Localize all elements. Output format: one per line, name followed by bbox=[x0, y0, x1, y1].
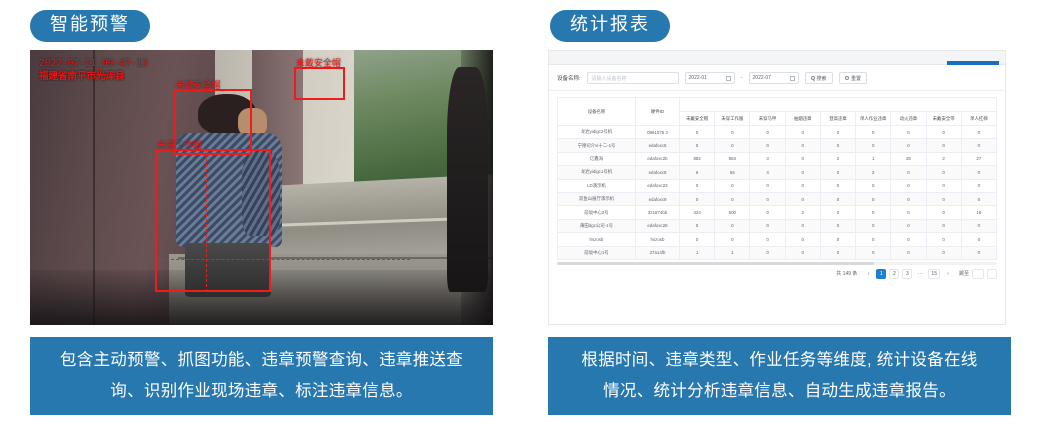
header-violation-5[interactable]: 单人作业违章 bbox=[856, 112, 891, 126]
table-row[interactable]: LD演示机edafoxc23000000000 bbox=[558, 179, 997, 192]
pagination-jump-input[interactable] bbox=[972, 269, 984, 279]
table-body: 龙岩yidigc2号机0861075 3000000000宁德司介vi十二-1号… bbox=[558, 126, 997, 260]
cell-violation-7: 0 bbox=[926, 192, 961, 205]
cell-violation-7: 0 bbox=[926, 166, 961, 179]
active-tab-indicator[interactable] bbox=[947, 61, 999, 65]
cell-violation-1: 883 bbox=[715, 152, 750, 165]
cell-violation-3: 0 bbox=[785, 219, 820, 232]
cell-violation-2: 0 bbox=[750, 246, 785, 259]
header-violation-group bbox=[680, 98, 997, 112]
pagination-page-···[interactable]: ··· bbox=[915, 269, 925, 279]
table-row[interactable]: 龙岩yidigc2号机0861075 3000000000 bbox=[558, 126, 997, 139]
cell-violation-5: 0 bbox=[856, 179, 891, 192]
detection-guide-line-horizontal bbox=[146, 259, 410, 260]
cell-violation-8: 0 bbox=[961, 192, 996, 205]
cell-violation-2: 0 bbox=[750, 126, 785, 139]
cell-violation-5: 0 bbox=[856, 206, 891, 219]
cell-violation-7: 0 bbox=[926, 219, 961, 232]
reset-button[interactable]: 重置 bbox=[839, 72, 868, 84]
cell-device-name: 前坂中心1号 bbox=[558, 246, 636, 259]
cell-violation-6: 0 bbox=[891, 166, 926, 179]
pagination: 共 149 条 ‹ 123···15 › 跳至 bbox=[549, 265, 1005, 279]
detection-label: 未戴安全帽 bbox=[176, 78, 221, 91]
search-icon bbox=[811, 76, 815, 80]
left-caption-text: 包含主动预警、抓图功能、违章预警查询、违章推送查询、识别作业现场违章、标注违章信… bbox=[56, 345, 467, 407]
cell-violation-3: 0 bbox=[785, 179, 820, 192]
table-head: 设备名称 硬件ID 未戴安全帽未穿工作服未穿马甲抽烟违章登高违章单人作业违章动火… bbox=[558, 98, 997, 126]
cell-violation-2: 4 bbox=[750, 166, 785, 179]
cell-violation-7: 0 bbox=[926, 246, 961, 259]
cell-violation-0: 0 bbox=[680, 179, 715, 192]
video-osd-overlay: 2022-07-11_09-47-13 福建省南平市光泽县 bbox=[39, 57, 148, 83]
filter-toolbar: 设备名称: 请输入设备名称 2022-01 - 2022-07 搜索 重置 bbox=[549, 65, 1005, 91]
cell-violation-8: 0 bbox=[961, 139, 996, 152]
cell-violation-2: 0 bbox=[750, 192, 785, 205]
scrollbar-thumb[interactable] bbox=[557, 262, 874, 265]
cell-violation-3: 0 bbox=[785, 139, 820, 152]
cell-violation-4: 0 bbox=[820, 206, 855, 219]
cell-violation-7: 0 bbox=[926, 179, 961, 192]
table-row[interactable]: 亿鑫海edafoxc2b882883302128227 bbox=[558, 152, 997, 165]
cell-violation-2: 0 bbox=[750, 179, 785, 192]
cell-violation-6: 0 bbox=[891, 192, 926, 205]
cell-violation-2: 3 bbox=[750, 152, 785, 165]
cell-hardware-id: edafoxc28 bbox=[636, 219, 680, 232]
pagination-page-15[interactable]: 15 bbox=[928, 269, 940, 279]
cell-violation-1: 56 bbox=[715, 166, 750, 179]
no-uniform-body-box: 未穿工作服 bbox=[155, 149, 271, 292]
horizontal-scrollbar[interactable] bbox=[557, 262, 997, 265]
calendar-icon bbox=[790, 76, 795, 81]
cell-violation-3: 0 bbox=[785, 152, 820, 165]
header-violation-0[interactable]: 未戴安全帽 bbox=[680, 112, 715, 126]
table-row[interactable]: hszosbhszosb000000000 bbox=[558, 233, 997, 246]
cell-violation-3: 2 bbox=[785, 206, 820, 219]
cell-violation-0: 0 bbox=[680, 233, 715, 246]
cell-violation-3: 0 bbox=[785, 192, 820, 205]
cell-violation-8: 18 bbox=[961, 206, 996, 219]
statistics-table: 设备名称 硬件ID 未戴安全帽未穿工作服未穿马甲抽烟违章登高违章单人作业违章动火… bbox=[557, 97, 997, 260]
cell-violation-5: 0 bbox=[856, 219, 891, 232]
table-header-row-group: 设备名称 硬件ID bbox=[558, 98, 997, 112]
table-row[interactable]: 前坂中心1号27a14fb110000000 bbox=[558, 246, 997, 259]
cell-device-name: 亿鑫海 bbox=[558, 152, 636, 165]
cell-device-name: 莆田dgc公司-1号 bbox=[558, 219, 636, 232]
cell-violation-6: 0 bbox=[891, 219, 926, 232]
cell-violation-6: 0 bbox=[891, 206, 926, 219]
pagination-prev[interactable]: ‹ bbox=[863, 269, 873, 279]
cell-violation-0: 0 bbox=[680, 126, 715, 139]
table-row[interactable]: 龙岩yidigc1号机edafoxc86564002000 bbox=[558, 166, 997, 179]
cell-violation-1: 0 bbox=[715, 139, 750, 152]
cell-violation-1: 0 bbox=[715, 219, 750, 232]
cell-violation-5: 0 bbox=[856, 192, 891, 205]
cell-violation-3: 0 bbox=[785, 246, 820, 259]
date-to-input[interactable]: 2022-07 bbox=[749, 72, 799, 84]
cell-violation-1: 1 bbox=[715, 246, 750, 259]
cell-violation-7: 0 bbox=[926, 206, 961, 219]
cell-violation-6: 0 bbox=[891, 246, 926, 259]
table-row[interactable]: 莆田dgc公司-1号edafoxc28000000000 bbox=[558, 219, 997, 232]
cell-violation-6: 0 bbox=[891, 179, 926, 192]
cell-violation-6: 28 bbox=[891, 152, 926, 165]
cell-violation-0: 0 bbox=[680, 219, 715, 232]
cell-violation-4: 0 bbox=[820, 166, 855, 179]
cell-violation-4: 0 bbox=[820, 246, 855, 259]
pagination-jump-label: 跳至 bbox=[959, 270, 969, 277]
detection-guide-line-vertical bbox=[206, 149, 207, 292]
cell-violation-1: 0 bbox=[715, 179, 750, 192]
header-violation-3[interactable]: 抽烟违章 bbox=[785, 112, 820, 126]
header-violation-7[interactable]: 未戴安全带 bbox=[926, 112, 961, 126]
video-location: 福建省南平市光泽县 bbox=[39, 70, 148, 83]
cell-violation-4: 0 bbox=[820, 233, 855, 246]
cell-violation-6: 0 bbox=[891, 126, 926, 139]
header-violation-1[interactable]: 未穿工作服 bbox=[715, 112, 750, 126]
cell-violation-1: 0 bbox=[715, 192, 750, 205]
pagination-page-1[interactable]: 1 bbox=[876, 269, 886, 279]
cell-violation-5: 0 bbox=[856, 139, 891, 152]
right-caption-text: 根据时间、违章类型、作业任务等维度, 统计设备在线情况、统计分析违章信息、自动生… bbox=[574, 345, 985, 407]
cell-violation-5: 0 bbox=[856, 126, 891, 139]
device-name-label: 设备名称: bbox=[557, 74, 581, 82]
header-violation-2[interactable]: 未穿马甲 bbox=[750, 112, 785, 126]
cell-hardware-id: 321874bb bbox=[636, 206, 680, 219]
section-badge-intelligent-alert: 智能预警 bbox=[30, 10, 150, 42]
cell-violation-4: 0 bbox=[820, 192, 855, 205]
cell-violation-7: 2 bbox=[926, 152, 961, 165]
refresh-icon bbox=[845, 76, 850, 81]
cell-violation-4: 0 bbox=[820, 179, 855, 192]
header-violation-8[interactable]: 单人扛梯 bbox=[961, 112, 996, 126]
header-device-name[interactable]: 设备名称 bbox=[558, 98, 636, 126]
cell-violation-8: 0 bbox=[961, 246, 996, 259]
search-button[interactable]: 搜索 bbox=[805, 72, 833, 84]
cell-violation-3: 0 bbox=[785, 126, 820, 139]
table-row[interactable]: 宁德司介vi十二-1号edafoxc5000000000 bbox=[558, 139, 997, 152]
cell-violation-4: 2 bbox=[820, 152, 855, 165]
cell-violation-1: 0 bbox=[715, 233, 750, 246]
cell-violation-7: 0 bbox=[926, 139, 961, 152]
cell-violation-7: 0 bbox=[926, 233, 961, 246]
cell-device-name: 龙岩yidigc2号机 bbox=[558, 126, 636, 139]
pagination-next[interactable]: › bbox=[943, 269, 953, 279]
app-top-bar bbox=[549, 51, 1005, 65]
header-violation-6[interactable]: 动火违章 bbox=[891, 112, 926, 126]
cell-violation-7: 0 bbox=[926, 126, 961, 139]
calendar-icon bbox=[726, 76, 731, 81]
date-from-input[interactable]: 2022-01 bbox=[685, 72, 735, 84]
pagination-total: 共 149 条 bbox=[836, 270, 857, 277]
cell-device-name: 宁德司介vi十二-1号 bbox=[558, 139, 636, 152]
detection-label: 未穿工作服 bbox=[157, 138, 202, 151]
cell-violation-6: 0 bbox=[891, 233, 926, 246]
cell-violation-2: 0 bbox=[750, 219, 785, 232]
search-button-label: 搜索 bbox=[817, 75, 827, 82]
cell-device-name: hszosb bbox=[558, 233, 636, 246]
pagination-page-3[interactable]: 3 bbox=[902, 269, 912, 279]
cell-violation-8: 0 bbox=[961, 126, 996, 139]
cell-device-name: 龙岩yidigc1号机 bbox=[558, 166, 636, 179]
cell-violation-0: 6 bbox=[680, 166, 715, 179]
cell-violation-5: 0 bbox=[856, 233, 891, 246]
no-helmet-far-box: 未戴安全帽 bbox=[294, 67, 345, 100]
table-row[interactable]: 双鱼山展厅演示机edafoxc9000000000 bbox=[558, 192, 997, 205]
cell-violation-1: 500 bbox=[715, 206, 750, 219]
date-range-separator: - bbox=[741, 75, 743, 81]
left-panel: 智能预警 2022-07-11_09-47-13 福建省南平市 bbox=[0, 0, 496, 428]
cell-violation-5: 0 bbox=[856, 246, 891, 259]
table-row[interactable]: 前坂中心2号321874bb42450002000018 bbox=[558, 206, 997, 219]
cell-violation-0: 882 bbox=[680, 152, 715, 165]
cell-violation-0: 0 bbox=[680, 139, 715, 152]
statistics-report-app[interactable]: 设备名称: 请输入设备名称 2022-01 - 2022-07 搜索 重置 设备… bbox=[548, 50, 1006, 325]
header-hardware-id[interactable]: 硬件ID bbox=[636, 98, 680, 126]
cell-violation-8: 0 bbox=[961, 166, 996, 179]
detection-label: 未戴安全帽 bbox=[296, 56, 341, 69]
cell-violation-8: 0 bbox=[961, 233, 996, 246]
right-caption-box: 根据时间、违章类型、作业任务等维度, 统计设备在线情况、统计分析违章信息、自动生… bbox=[548, 337, 1011, 415]
cell-violation-5: 2 bbox=[856, 166, 891, 179]
date-to-value: 2022-07 bbox=[753, 75, 771, 81]
header-violation-4[interactable]: 登高违章 bbox=[820, 112, 855, 126]
cell-violation-5: 1 bbox=[856, 152, 891, 165]
pagination-page-size-select[interactable] bbox=[987, 269, 997, 279]
device-name-placeholder: 请输入设备名称 bbox=[592, 75, 627, 82]
cell-hardware-id: edafoxc8 bbox=[636, 166, 680, 179]
cell-violation-0: 0 bbox=[680, 192, 715, 205]
cell-violation-3: 0 bbox=[785, 166, 820, 179]
date-from-value: 2022-01 bbox=[689, 75, 707, 81]
cell-hardware-id: edafoxc2b bbox=[636, 152, 680, 165]
left-caption-box: 包含主动预警、抓图功能、违章预警查询、违章推送查询、识别作业现场违章、标注违章信… bbox=[30, 337, 493, 415]
cell-hardware-id: edafoxc9 bbox=[636, 192, 680, 205]
cell-violation-6: 0 bbox=[891, 139, 926, 152]
cell-violation-2: 0 bbox=[750, 233, 785, 246]
cell-violation-1: 0 bbox=[715, 126, 750, 139]
cell-hardware-id: edafoxc23 bbox=[636, 179, 680, 192]
cell-device-name: 双鱼山展厅演示机 bbox=[558, 192, 636, 205]
cell-violation-2: 0 bbox=[750, 206, 785, 219]
section-badge-statistics-report: 统计报表 bbox=[550, 10, 670, 42]
cell-hardware-id: 27a14fb bbox=[636, 246, 680, 259]
surveillance-video-frame[interactable]: 2022-07-11_09-47-13 福建省南平市光泽县 未戴安全帽 未穿工作… bbox=[30, 50, 493, 325]
cell-hardware-id: 0861075 3 bbox=[636, 126, 680, 139]
cell-violation-8: 0 bbox=[961, 219, 996, 232]
cell-hardware-id: hszosb bbox=[636, 233, 680, 246]
cell-device-name: LD演示机 bbox=[558, 179, 636, 192]
report-table-container: 设备名称 硬件ID 未戴安全帽未穿工作服未穿马甲抽烟违章登高违章单人作业违章动火… bbox=[549, 91, 1005, 260]
cell-violation-0: 1 bbox=[680, 246, 715, 259]
pagination-page-2[interactable]: 2 bbox=[889, 269, 899, 279]
reset-button-label: 重置 bbox=[851, 75, 861, 82]
cell-device-name: 前坂中心2号 bbox=[558, 206, 636, 219]
cell-violation-4: 0 bbox=[820, 219, 855, 232]
second-person-silhouette bbox=[447, 67, 489, 293]
cell-violation-8: 27 bbox=[961, 152, 996, 165]
cell-violation-4: 0 bbox=[820, 139, 855, 152]
video-timestamp: 2022-07-11_09-47-13 bbox=[39, 57, 148, 70]
pagination-pages: 123···15 bbox=[876, 269, 940, 279]
cell-violation-8: 0 bbox=[961, 179, 996, 192]
cell-violation-4: 0 bbox=[820, 126, 855, 139]
device-name-input[interactable]: 请输入设备名称 bbox=[587, 72, 679, 84]
cell-hardware-id: edafoxc5 bbox=[636, 139, 680, 152]
cell-violation-0: 424 bbox=[680, 206, 715, 219]
cell-violation-3: 0 bbox=[785, 233, 820, 246]
cell-violation-2: 0 bbox=[750, 139, 785, 152]
